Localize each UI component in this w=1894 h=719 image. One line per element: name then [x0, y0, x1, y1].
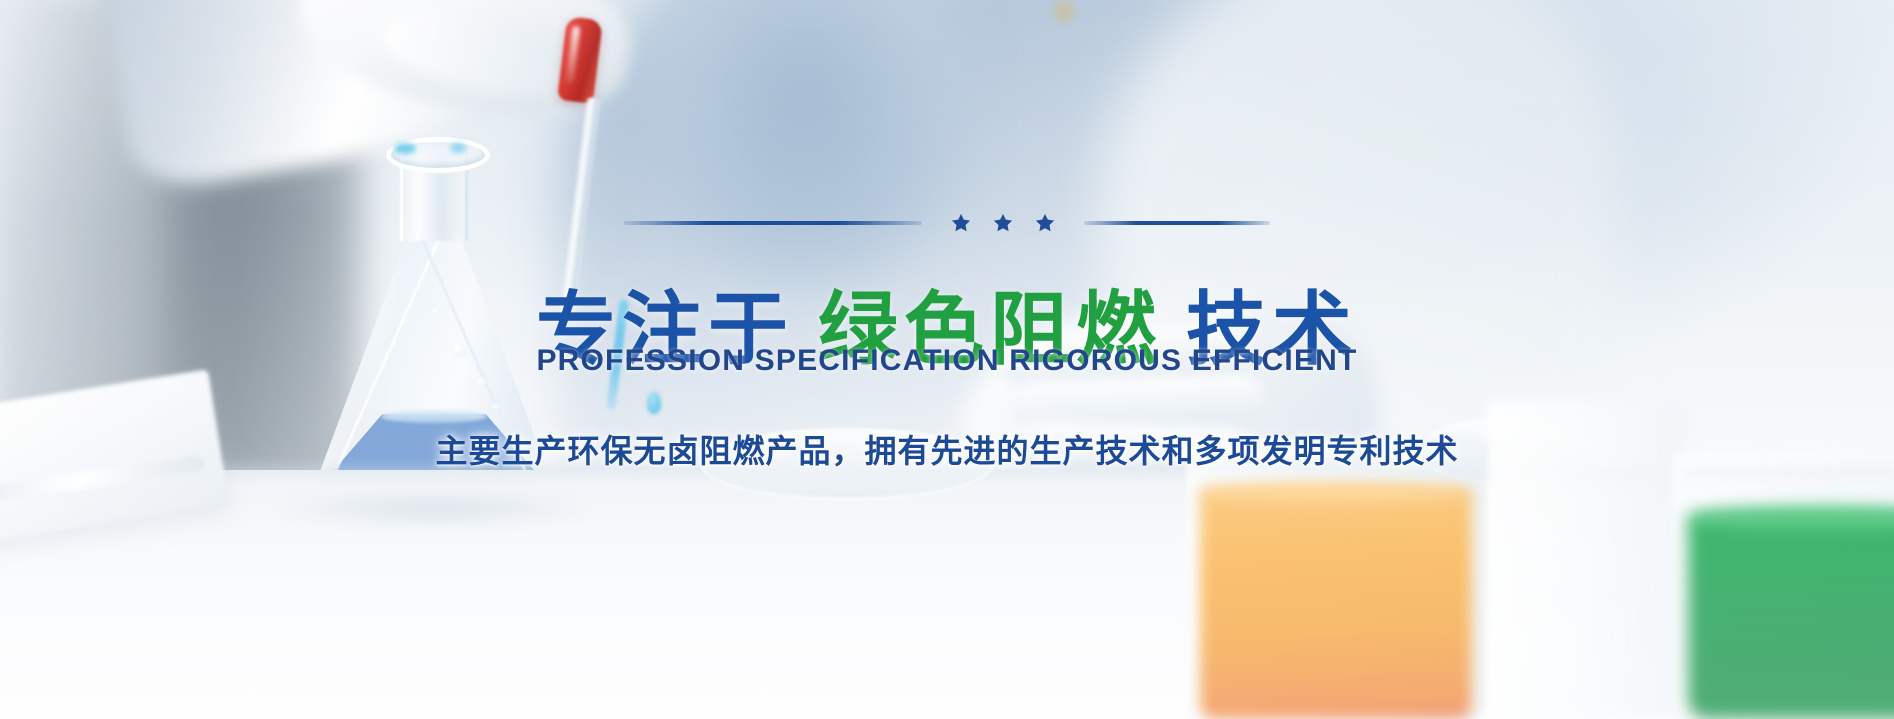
bubble-2 — [476, 377, 487, 388]
bubble-4 — [492, 403, 500, 411]
decorative-divider — [624, 212, 1270, 234]
flask-shadow — [268, 492, 598, 526]
bubble-1 — [452, 343, 467, 358]
flask-rim-tint-left — [394, 143, 416, 154]
scientist-shirt — [640, 0, 970, 290]
subtitle-english: PROFESSION SPECIFICATION RIGOROUS EFFICI… — [536, 344, 1357, 378]
subtitle-chinese: 主要生产环保无卤阻燃产品，拥有先进的生产技术和多项发明专利技术 — [435, 426, 1458, 472]
divider-line-right — [1084, 221, 1270, 225]
divider-line-left — [624, 221, 922, 225]
lab-coat-button — [1053, 0, 1075, 22]
orange-liquid-beaker — [1186, 440, 1486, 719]
pipette-droplet — [647, 392, 661, 414]
green-beaker-liquid — [1688, 514, 1894, 719]
flask-liquid-surface — [381, 410, 487, 423]
star-icon — [992, 212, 1014, 234]
star-icon — [950, 212, 972, 234]
white-container — [1486, 400, 1686, 719]
hero-banner: 专注于绿色阻燃技术 PROFESSION SPECIFICATION RIGOR… — [0, 0, 1894, 719]
orange-beaker-liquid — [1200, 488, 1472, 719]
divider-stars — [936, 212, 1070, 234]
star-icon — [1034, 212, 1056, 234]
flask-rim-tint-right — [450, 143, 466, 153]
green-liquid-beaker — [1672, 452, 1894, 719]
bubble-3 — [432, 307, 441, 316]
orange-liquid-surface — [1204, 482, 1468, 504]
